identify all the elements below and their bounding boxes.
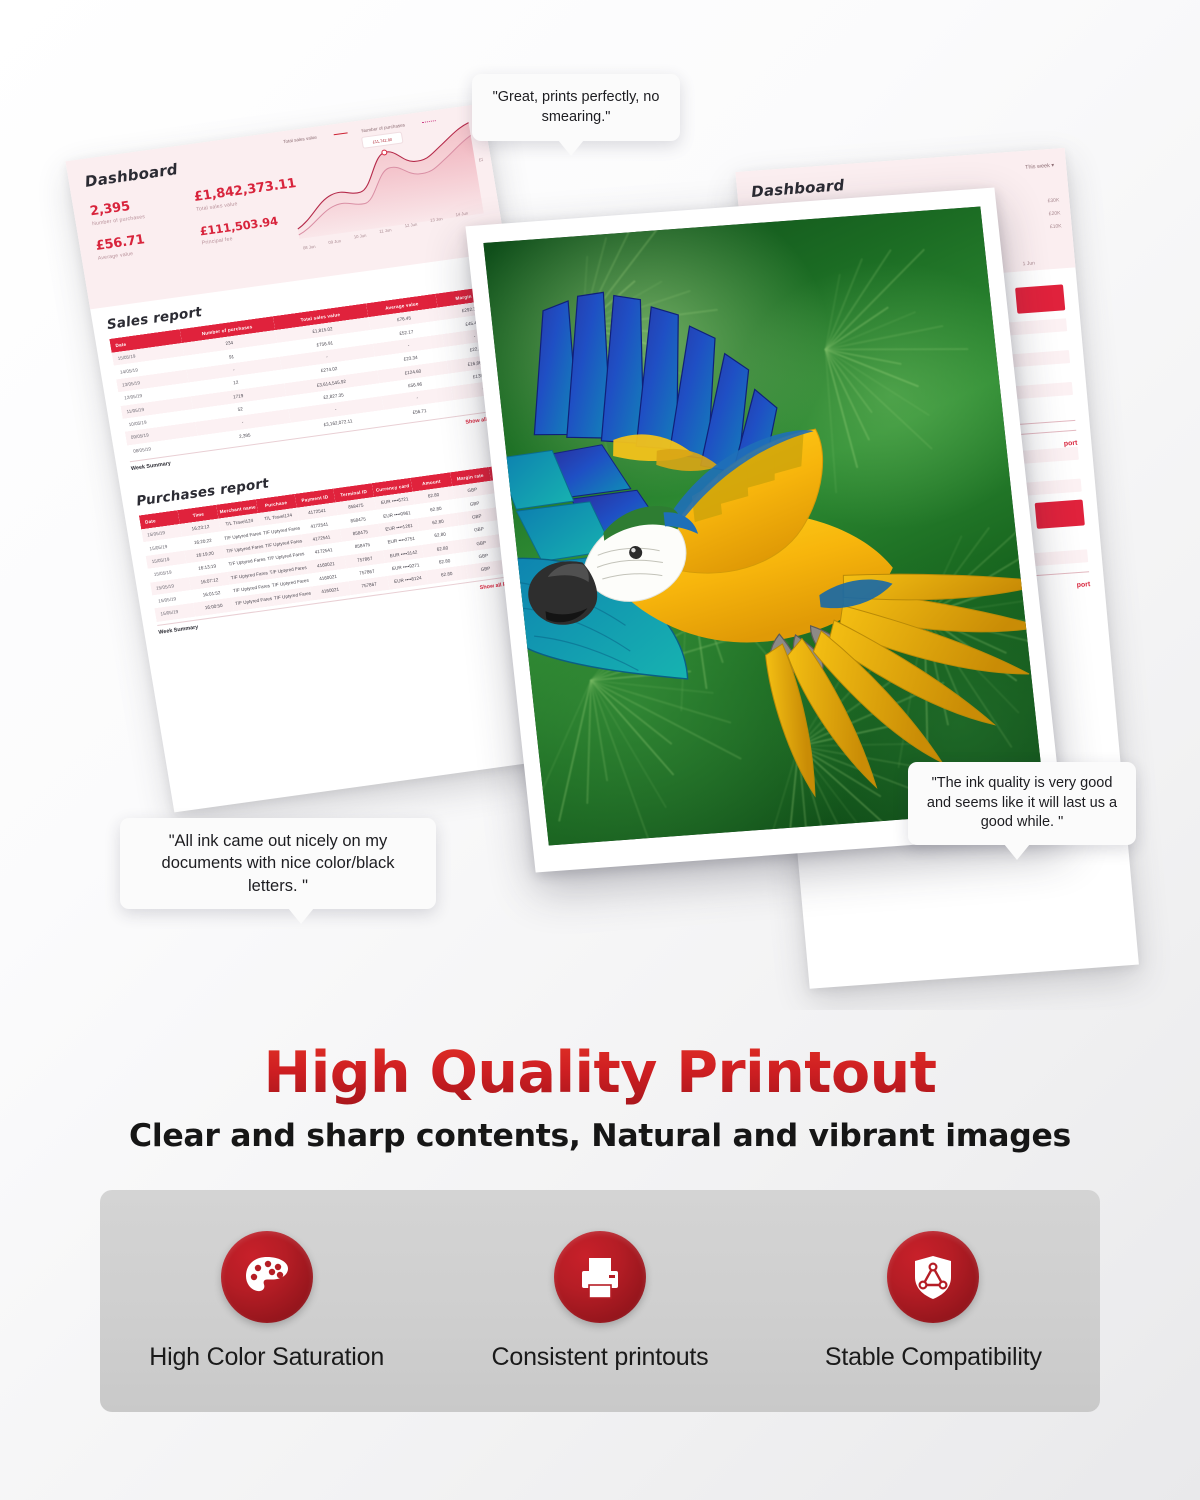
photo-image (483, 207, 1045, 846)
shield-compatibility-icon (887, 1231, 979, 1323)
feature-label: Stable Compatibility (825, 1343, 1042, 1372)
x-tick-3: 11 Jun (379, 227, 393, 234)
kpi-average-value: £56.71 Average value (95, 225, 203, 262)
x-tick-2: 10 Jun (353, 233, 367, 240)
feature-high-color-saturation: High Color Saturation (100, 1231, 433, 1372)
kpi-grid: 2,395 Number of purchases £1,842,373.11 … (89, 176, 309, 274)
right-x-label: 1 Jun (1022, 260, 1035, 267)
x-tick-1: 09 Jun (328, 238, 342, 245)
x-tick-0: 08 Jun (303, 244, 317, 251)
right-axis-label-0: £30K (1047, 194, 1060, 208)
feature-label: Consistent printouts (492, 1343, 709, 1372)
x-tick-5: 13 Jun (430, 216, 444, 223)
feature-consistent-printouts: Consistent printouts (433, 1231, 766, 1372)
color-palette-icon (221, 1231, 313, 1323)
shield-glyph (908, 1252, 958, 1302)
x-tick-4: 12 Jun (404, 222, 418, 229)
right-axis-label-2: £10K (1049, 220, 1062, 234)
y-tick-1: £20K (478, 156, 489, 162)
right-axis-label-1: £20K (1048, 207, 1061, 221)
x-tick-6: 14 Jun (455, 210, 469, 217)
chevron-down-icon[interactable]: ▾ (1051, 163, 1054, 169)
feature-panel: High Color Saturation Consistent printou… (100, 1190, 1100, 1412)
feature-label: High Color Saturation (149, 1343, 384, 1372)
printer-glyph (575, 1252, 625, 1302)
macaw-parrot (483, 223, 1045, 831)
right-sheet-action-button-bottom[interactable] (1035, 499, 1085, 528)
printer-icon (554, 1231, 646, 1323)
hero-scene: Dashboard Total sales value Number of pu… (0, 0, 1200, 1010)
feature-stable-compatibility: Stable Compatibility (767, 1231, 1100, 1372)
sales-week-summary-label: Week Summary (131, 461, 172, 472)
testimonial-bubble-left: "All ink came out nicely on my documents… (120, 818, 436, 909)
page-subtitle: Clear and sharp contents, Natural and vi… (0, 1118, 1200, 1154)
kpi-number-of-purchases: 2,395 Number of purchases (89, 190, 197, 227)
palette-glyph (241, 1251, 293, 1303)
testimonial-bubble-top: "Great, prints perfectly, no smearing." (472, 74, 680, 141)
page-title: High Quality Printout (263, 1040, 936, 1106)
headline-section: High Quality Printout Clear and sharp co… (0, 1040, 1200, 1154)
right-sheet-action-button-top[interactable] (1015, 284, 1065, 313)
chart-active-point (382, 150, 388, 155)
sales-chart: Total sales value Number of purchases (277, 113, 496, 267)
purchases-week-summary-label: Week Summary (158, 624, 199, 635)
testimonial-bubble-right: "The ink quality is very good and seems … (908, 762, 1136, 845)
